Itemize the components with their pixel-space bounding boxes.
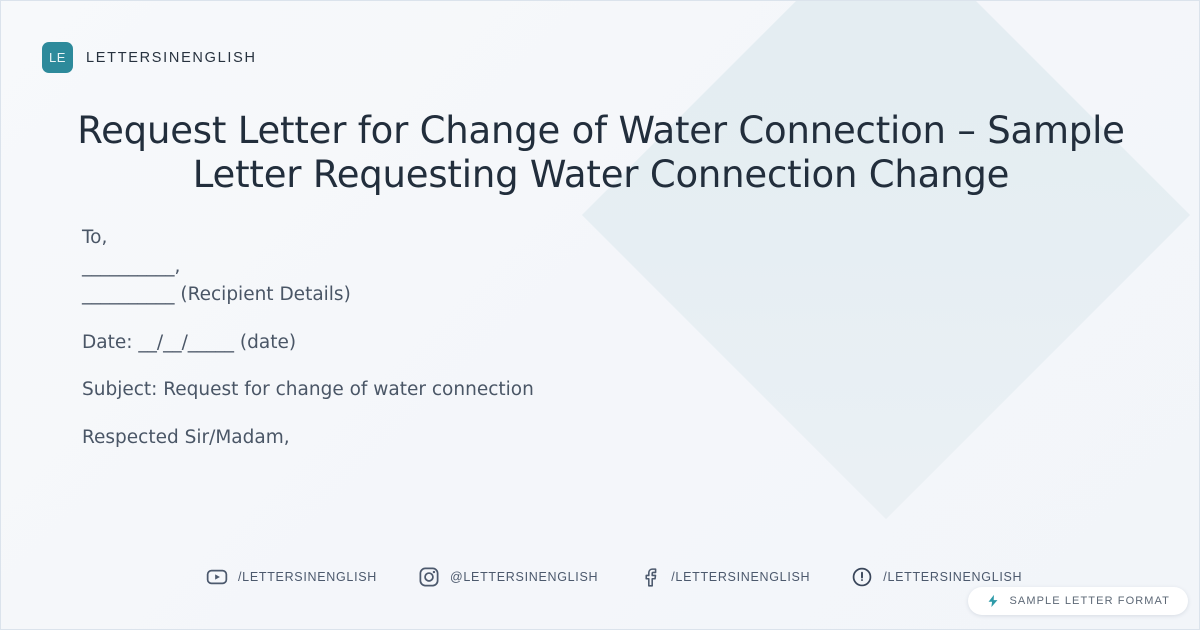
social-handle: /LETTERSINENGLISH [238, 570, 377, 584]
badge-label: SAMPLE LETTER FORMAT [1009, 595, 1170, 607]
social-handle: @LETTERSINENGLISH [450, 570, 598, 584]
instagram-icon [418, 566, 440, 588]
social-link-instagram[interactable]: @LETTERSINENGLISH [418, 566, 598, 588]
recipient-line-2: __________, [82, 258, 982, 277]
recipient-line-1: To, [82, 229, 982, 248]
recipient-block: To, __________, __________ (Recipient De… [82, 229, 982, 305]
social-link-youtube[interactable]: /LETTERSINENGLISH [206, 566, 377, 588]
youtube-icon [206, 566, 228, 588]
social-handle: /LETTERSINENGLISH [883, 570, 1022, 584]
social-handle: /LETTERSINENGLISH [671, 570, 810, 584]
sample-letter-format-badge[interactable]: SAMPLE LETTER FORMAT [968, 587, 1188, 615]
pinterest-icon [851, 566, 873, 588]
social-link-pinterest[interactable]: /LETTERSINENGLISH [851, 566, 1022, 588]
social-link-facebook[interactable]: /LETTERSINENGLISH [639, 566, 810, 588]
lightning-bolt-icon [986, 594, 1000, 608]
facebook-icon [639, 566, 661, 588]
date-block: Date: __/__/_____ (date) [82, 334, 982, 353]
social-links: /LETTERSINENGLISH @LETTERSINENGLISH /LET… [206, 566, 1022, 588]
date-line: Date: __/__/_____ (date) [82, 334, 982, 353]
brand-logo[interactable]: LE LETTERSINENGLISH [42, 42, 257, 73]
letter-body: To, __________, __________ (Recipient De… [82, 229, 982, 476]
salutation-block: Respected Sir/Madam, [82, 429, 982, 448]
letter-template-card: LE LETTERSINENGLISH Request Letter for C… [0, 0, 1200, 630]
recipient-line-3: __________ (Recipient Details) [82, 286, 982, 305]
subject-line: Subject: Request for change of water con… [82, 381, 982, 400]
subject-block: Subject: Request for change of water con… [82, 381, 982, 400]
brand-wordmark: LETTERSINENGLISH [86, 50, 257, 66]
le-monogram-icon: LE [42, 42, 73, 73]
salutation-line: Respected Sir/Madam, [82, 429, 982, 448]
page-title: Request Letter for Change of Water Conne… [61, 109, 1141, 196]
